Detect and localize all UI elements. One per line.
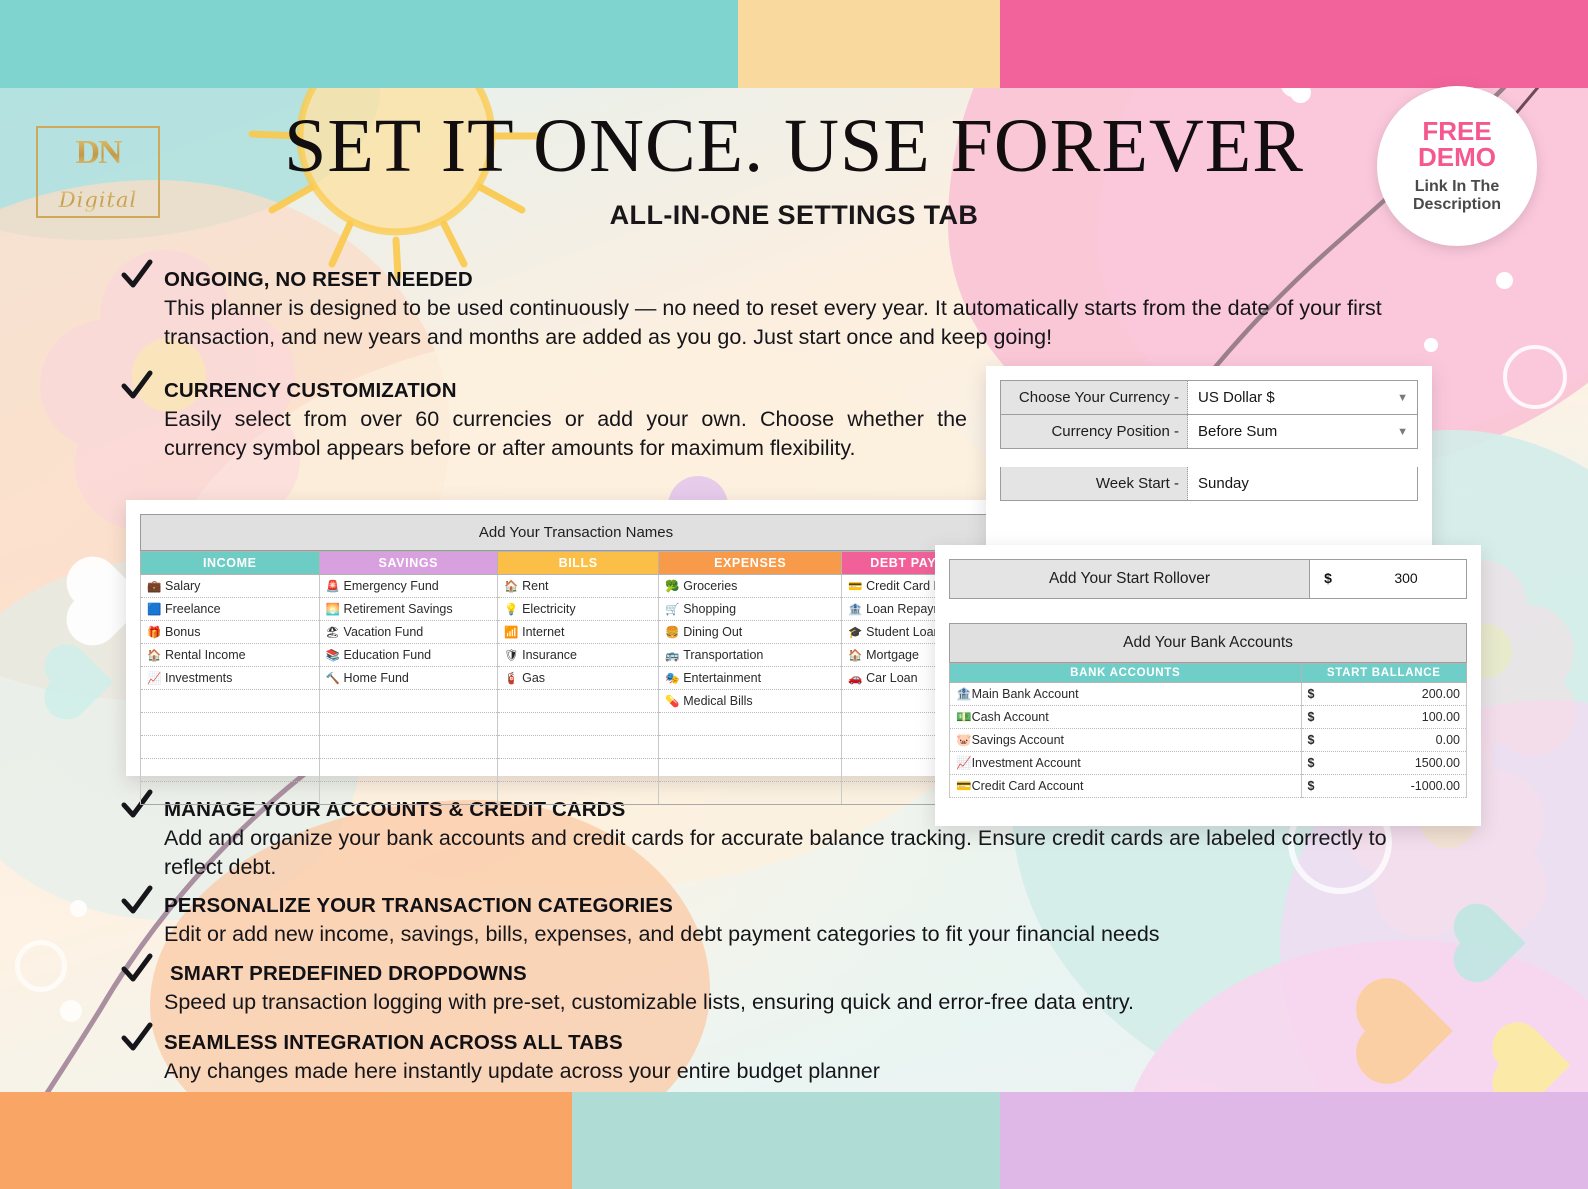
- cell-label: Rental Income: [165, 648, 246, 662]
- cell-savings-4[interactable]: 📚Education Fund: [319, 644, 498, 667]
- setting-value-week-start[interactable]: Sunday: [1188, 467, 1417, 500]
- bank-account-name[interactable]: 📈Investment Account: [950, 752, 1302, 775]
- bank-icon: 🏦: [848, 602, 862, 616]
- feature-item-6: SEAMLESS INTEGRATION ACROSS ALL TABS Any…: [120, 1031, 1440, 1086]
- cell-label: Car Loan: [866, 671, 917, 685]
- balance-amount[interactable]: -1000.00: [1348, 775, 1466, 797]
- cell-label: Transportation: [683, 648, 763, 662]
- bank-header-row: BANK ACCOUNTS START BALLANCE: [950, 664, 1467, 683]
- band-lavender: [1000, 1092, 1588, 1189]
- band-pink: [1000, 0, 1588, 88]
- cell-label: Internet: [522, 625, 564, 639]
- feature-body: Add and organize your bank accounts and …: [164, 824, 1440, 881]
- transactions-sheet-title: Add Your Transaction Names: [140, 514, 1012, 551]
- balance-currency: $: [1302, 752, 1348, 774]
- cell-label: Entertainment: [683, 671, 761, 685]
- badge-link-text: Link In The Description: [1413, 178, 1501, 214]
- column-header-expenses[interactable]: EXPENSES: [659, 552, 842, 575]
- table-row[interactable]: 💊Medical Bills: [141, 690, 1012, 713]
- table-row[interactable]: 🏠Rental Income 📚Education Fund 🛡Insuranc…: [141, 644, 1012, 667]
- cash-icon: 💵: [956, 710, 972, 724]
- piggy-bank-icon: 🐷: [956, 733, 972, 747]
- shield-icon: 🛡: [504, 648, 518, 662]
- accounts-panel-card: Add Your Start Rollover $ 300 Add Your B…: [935, 545, 1481, 826]
- badge-line3: Link In The: [1415, 178, 1499, 195]
- cell-label: Salary: [165, 579, 200, 593]
- setting-row-currency[interactable]: Choose Your Currency - US Dollar $ ▼: [1000, 380, 1418, 415]
- bank-icon: 🏦: [956, 687, 972, 701]
- cell-label: Home Fund: [344, 671, 409, 685]
- start-rollover-row[interactable]: Add Your Start Rollover $ 300: [949, 559, 1467, 599]
- table-row[interactable]: 📈Investments 🔨Home Fund 🧯Gas 🎭Entertainm…: [141, 667, 1012, 690]
- bank-accounts-table: BANK ACCOUNTS START BALLANCE 🏦Main Bank …: [949, 663, 1467, 798]
- cell-savings-1[interactable]: 🚨Emergency Fund: [319, 575, 498, 598]
- cell-expenses-1[interactable]: 🥦Groceries: [659, 575, 842, 598]
- bank-balance-cell[interactable]: $-1000.00: [1301, 775, 1466, 798]
- bottom-color-band: [0, 1092, 1588, 1189]
- graduation-cap-icon: 🎓: [848, 625, 862, 639]
- sunrise-icon: 🌅: [326, 602, 340, 616]
- page-subtitle: ALL-IN-ONE SETTINGS TAB: [0, 200, 1588, 231]
- band-peach: [738, 0, 1000, 88]
- laptop-icon: 🟦: [147, 602, 161, 616]
- check-icon: [120, 258, 154, 292]
- setting-label-currency: Choose Your Currency -: [1001, 381, 1188, 414]
- table-row[interactable]: 🎁Bonus 🏖Vacation Fund 📶Internet 🍔Dining …: [141, 621, 1012, 644]
- table-row[interactable]: 🐷Savings Account $0.00: [950, 729, 1467, 752]
- feature-body: This planner is designed to be used cont…: [164, 294, 1440, 351]
- cell-label: Education Fund: [344, 648, 432, 662]
- start-rollover-value[interactable]: 300: [1346, 560, 1466, 598]
- briefcase-icon: 💼: [147, 579, 161, 593]
- setting-row-currency-position[interactable]: Currency Position - Before Sum ▼: [1000, 415, 1418, 449]
- decor-ring-bottomleft: [15, 940, 67, 992]
- badge-line1: FREE: [1422, 116, 1491, 146]
- start-rollover-label: Add Your Start Rollover: [950, 560, 1309, 598]
- cell-bills-1[interactable]: 🏠Rent: [498, 575, 659, 598]
- credit-card-icon: 💳: [956, 779, 972, 793]
- feature-heading: SMART PREDEFINED DROPDOWNS: [170, 962, 1440, 986]
- cell-bills-4[interactable]: 🛡Insurance: [498, 644, 659, 667]
- setting-value-currency-position[interactable]: Before Sum ▼: [1188, 415, 1417, 448]
- cell-label: Gas: [522, 671, 545, 685]
- cell-savings-2[interactable]: 🌅Retirement Savings: [319, 598, 498, 621]
- balance-currency: $: [1302, 683, 1348, 705]
- setting-label-week-start: Week Start -: [1001, 467, 1188, 500]
- cart-icon: 🛒: [665, 602, 679, 616]
- setting-value-currency[interactable]: US Dollar $ ▼: [1188, 381, 1417, 414]
- bank-balance-cell[interactable]: $1500.00: [1301, 752, 1466, 775]
- chart-icon: 📈: [147, 671, 161, 685]
- cell-label: Mortgage: [866, 648, 919, 662]
- table-row[interactable]: 📈Investment Account $1500.00: [950, 752, 1467, 775]
- top-color-band: [0, 0, 1588, 88]
- bank-column-header-balance: START BALLANCE: [1301, 664, 1466, 683]
- table-row[interactable]: 🟦Freelance 🌅Retirement Savings 💡Electric…: [141, 598, 1012, 621]
- feature-item-5: SMART PREDEFINED DROPDOWNS Speed up tran…: [120, 962, 1440, 1017]
- cell-bills-6[interactable]: [498, 690, 659, 713]
- check-icon: [120, 369, 154, 403]
- feature-body: Edit or add new income, savings, bills, …: [164, 920, 1440, 949]
- feature-heading: SEAMLESS INTEGRATION ACROSS ALL TABS: [164, 1031, 1440, 1055]
- balance-amount[interactable]: 200.00: [1348, 683, 1466, 705]
- currency-position-select-value: Before Sum: [1198, 423, 1277, 440]
- cell-bills-2[interactable]: 💡Electricity: [498, 598, 659, 621]
- column-header-income[interactable]: INCOME: [141, 552, 320, 575]
- bank-balance-cell[interactable]: $200.00: [1301, 683, 1466, 706]
- wifi-icon: 📶: [504, 625, 518, 639]
- books-icon: 📚: [326, 648, 340, 662]
- credit-card-icon: 💳: [848, 579, 862, 593]
- house-icon: 🏠: [147, 648, 161, 662]
- table-row-empty[interactable]: [141, 713, 1012, 736]
- band-orange: [0, 1092, 572, 1189]
- feature-body: Easily select from over 60 currencies or…: [164, 405, 967, 462]
- gas-icon: 🧯: [504, 671, 518, 685]
- bank-balance-cell[interactable]: $0.00: [1301, 729, 1466, 752]
- free-demo-badge[interactable]: FREE DEMO Link In The Description: [1377, 86, 1537, 246]
- feature-body: Speed up transaction logging with pre-se…: [164, 988, 1440, 1017]
- cell-label: Investments: [165, 671, 232, 685]
- balance-currency: $: [1302, 706, 1348, 728]
- cell-label: Shopping: [683, 602, 736, 616]
- balance-currency: $: [1302, 729, 1348, 751]
- page-title: SET IT ONCE. USE FOREVER: [0, 108, 1588, 184]
- balance-amount[interactable]: 0.00: [1348, 729, 1466, 751]
- column-header-savings[interactable]: SAVINGS: [319, 552, 498, 575]
- balance-amount[interactable]: 100.00: [1348, 706, 1466, 728]
- band-mint: [572, 1092, 1001, 1189]
- bank-name-label: Investment Account: [972, 756, 1081, 770]
- bank-name-label: Credit Card Account: [972, 779, 1084, 793]
- chevron-down-icon[interactable]: ▼: [1397, 426, 1408, 438]
- badge-line4: Description: [1413, 196, 1501, 213]
- bank-account-name[interactable]: 💵Cash Account: [950, 706, 1302, 729]
- table-row-empty[interactable]: [141, 736, 1012, 759]
- cell-income-5[interactable]: 📈Investments: [141, 667, 320, 690]
- house-icon: 🏠: [504, 579, 518, 593]
- badge-line2: DEMO: [1418, 142, 1496, 172]
- cell-label: Medical Bills: [683, 694, 752, 708]
- decor-ring-right: [1503, 345, 1567, 409]
- alarm-icon: 🚨: [326, 579, 340, 593]
- bank-account-name[interactable]: 🏦Main Bank Account: [950, 683, 1302, 706]
- cell-expenses-2[interactable]: 🛒Shopping: [659, 598, 842, 621]
- table-row[interactable]: 💵Cash Account $100.00: [950, 706, 1467, 729]
- cell-bills-3[interactable]: 📶Internet: [498, 621, 659, 644]
- cell-label: Freelance: [165, 602, 221, 616]
- transactions-table: INCOME SAVINGS BILLS EXPENSES DEBT PAYME…: [140, 551, 1012, 805]
- table-row[interactable]: 🏦Main Bank Account $200.00: [950, 683, 1467, 706]
- cell-expenses-5[interactable]: 🎭Entertainment: [659, 667, 842, 690]
- feature-heading: ONGOING, NO RESET NEEDED: [164, 268, 1440, 292]
- cell-label: Emergency Fund: [344, 579, 439, 593]
- setting-label-currency-position: Currency Position -: [1001, 415, 1188, 448]
- bank-name-label: Main Bank Account: [972, 687, 1079, 701]
- chart-icon: 📈: [956, 756, 972, 770]
- bank-account-name[interactable]: 🐷Savings Account: [950, 729, 1302, 752]
- start-rollover-currency: $: [1309, 560, 1346, 598]
- theatre-icon: 🎭: [665, 671, 679, 685]
- cell-expenses-4[interactable]: 🚌Transportation: [659, 644, 842, 667]
- cell-label: Retirement Savings: [344, 602, 453, 616]
- transactions-header-row: INCOME SAVINGS BILLS EXPENSES DEBT PAYME…: [141, 552, 1012, 575]
- feature-item-1: ONGOING, NO RESET NEEDED This planner is…: [120, 268, 1440, 351]
- cell-label: Insurance: [522, 648, 577, 662]
- lightbulb-icon: 💡: [504, 602, 518, 616]
- house-icon: 🏠: [848, 648, 862, 662]
- poster-canvas: DN Digital SET IT ONCE. USE FOREVER ALL-…: [0, 0, 1588, 1189]
- check-icon: [120, 1021, 154, 1055]
- bank-name-label: Savings Account: [972, 733, 1064, 747]
- cell-label: Vacation Fund: [344, 625, 424, 639]
- cell-savings-5[interactable]: 🔨Home Fund: [319, 667, 498, 690]
- cell-savings-6[interactable]: [319, 690, 498, 713]
- gift-icon: 🎁: [147, 625, 161, 639]
- table-row-empty[interactable]: [141, 759, 1012, 782]
- bank-column-header-name: BANK ACCOUNTS: [950, 664, 1302, 683]
- cell-income-6[interactable]: [141, 690, 320, 713]
- table-row[interactable]: 💳Credit Card Account $-1000.00: [950, 775, 1467, 798]
- transactions-sheet-card: Add Your Transaction Names INCOME SAVING…: [126, 500, 1026, 776]
- broccoli-icon: 🥦: [665, 579, 679, 593]
- cell-income-1[interactable]: 💼Salary: [141, 575, 320, 598]
- cell-income-3[interactable]: 🎁Bonus: [141, 621, 320, 644]
- feature-item-2: CURRENCY CUSTOMIZATION Easily select fro…: [120, 379, 967, 462]
- check-icon: [120, 884, 154, 918]
- decor-dot-3: [1496, 272, 1513, 289]
- cell-savings-3[interactable]: 🏖Vacation Fund: [319, 621, 498, 644]
- band-teal: [0, 0, 738, 88]
- feature-heading: CURRENCY CUSTOMIZATION: [164, 379, 967, 403]
- chevron-down-icon[interactable]: ▼: [1397, 392, 1408, 404]
- setting-row-week-start[interactable]: Week Start - Sunday: [1000, 467, 1418, 501]
- cell-expenses-3[interactable]: 🍔Dining Out: [659, 621, 842, 644]
- feature-heading: PERSONALIZE YOUR TRANSACTION CATEGORIES: [164, 894, 1440, 918]
- cell-label: Electricity: [522, 602, 575, 616]
- currency-select-value: US Dollar $: [1198, 389, 1275, 406]
- beach-icon: 🏖: [326, 625, 340, 639]
- decor-dot-6: [70, 900, 87, 917]
- feature-item-4: PERSONALIZE YOUR TRANSACTION CATEGORIES …: [120, 894, 1440, 949]
- table-row[interactable]: 💼Salary 🚨Emergency Fund 🏠Rent 🥦Groceries…: [141, 575, 1012, 598]
- bank-name-label: Cash Account: [972, 710, 1049, 724]
- cell-label: Rent: [522, 579, 548, 593]
- decor-dot-7: [60, 1000, 82, 1022]
- cell-income-2[interactable]: 🟦Freelance: [141, 598, 320, 621]
- balance-amount[interactable]: 1500.00: [1348, 752, 1466, 774]
- feature-body: Any changes made here instantly update a…: [164, 1057, 1440, 1086]
- bank-balance-cell[interactable]: $100.00: [1301, 706, 1466, 729]
- table-row-empty[interactable]: [141, 782, 1012, 805]
- pill-icon: 💊: [665, 694, 679, 708]
- badge-free-demo: FREE DEMO: [1418, 118, 1496, 171]
- cell-label: Dining Out: [683, 625, 742, 639]
- hammer-icon: 🔨: [326, 671, 340, 685]
- bus-icon: 🚌: [665, 648, 679, 662]
- balance-currency: $: [1302, 775, 1348, 797]
- column-header-bills[interactable]: BILLS: [498, 552, 659, 575]
- week-start-select-value: Sunday: [1198, 475, 1249, 492]
- bank-accounts-title: Add Your Bank Accounts: [949, 623, 1467, 663]
- car-icon: 🚗: [848, 671, 862, 685]
- cell-label: Groceries: [683, 579, 737, 593]
- cell-income-4[interactable]: 🏠Rental Income: [141, 644, 320, 667]
- cell-label: Student Loan: [866, 625, 940, 639]
- cell-expenses-6[interactable]: 💊Medical Bills: [659, 690, 842, 713]
- check-icon: [120, 952, 154, 986]
- cell-label: Bonus: [165, 625, 200, 639]
- bank-account-name[interactable]: 💳Credit Card Account: [950, 775, 1302, 798]
- cell-bills-5[interactable]: 🧯Gas: [498, 667, 659, 690]
- burger-icon: 🍔: [665, 625, 679, 639]
